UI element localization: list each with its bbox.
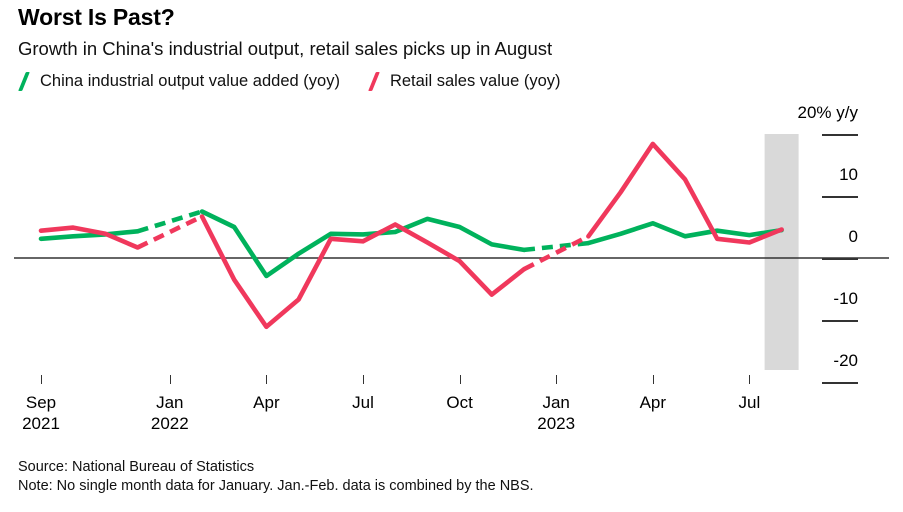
source-text: Source: National Bureau of Statistics (18, 458, 534, 477)
legend-swatch-green-icon (16, 73, 32, 90)
y-axis-tick-10 (822, 196, 858, 198)
x-axis-label-2022-10: Oct (410, 392, 510, 413)
y-axis-label--20: -20 (833, 351, 858, 371)
x-axis-label-month: Jul (699, 392, 799, 413)
legend-item-retail: Retail sales value (yoy) (366, 72, 561, 91)
legend-swatch-red-icon (366, 73, 382, 90)
y-axis-tick--20 (822, 382, 858, 384)
x-axis-label-2023-04: Apr (603, 392, 703, 413)
legend-label-retail: Retail sales value (yoy) (390, 72, 561, 91)
chart-page: Worst Is Past? Growth in China's industr… (0, 0, 903, 512)
series-gap-dashed-retail (138, 217, 202, 248)
x-axis-tick-2023-01 (556, 375, 557, 384)
series-line-industrial (202, 212, 524, 277)
x-axis-tick-2021-09 (41, 375, 42, 384)
x-axis-label-year: 2023 (506, 413, 606, 434)
x-axis-label-month: Apr (603, 392, 703, 413)
y-axis-label-20: 20% y/y (798, 103, 858, 123)
x-axis-tick-2023-07 (749, 375, 750, 384)
chart-legend: China industrial output value added (yoy… (16, 72, 561, 91)
y-axis-tick--10 (822, 320, 858, 322)
y-axis-label--10: -10 (833, 289, 858, 309)
x-axis-tick-2022-01 (170, 375, 171, 384)
legend-item-industrial: China industrial output value added (yoy… (16, 72, 340, 91)
page-subtitle: Growth in China's industrial output, ret… (18, 38, 552, 60)
series-gap-dashed-industrial (524, 243, 588, 250)
x-axis-tick-2022-04 (266, 375, 267, 384)
x-axis-tick-2022-07 (363, 375, 364, 384)
x-axis-label-2022-07: Jul (313, 392, 413, 413)
series-line-retail (41, 228, 138, 248)
x-axis-label-month: Jul (313, 392, 413, 413)
series-line-retail (202, 217, 524, 327)
y-axis-label-10: 10 (839, 165, 858, 185)
y-axis-tick-0 (822, 258, 858, 260)
x-axis-label-2023-07: Jul (699, 392, 799, 413)
series-line-industrial (588, 223, 781, 243)
x-axis-label-year: 2021 (0, 413, 91, 434)
x-axis-label-year: 2022 (120, 413, 220, 434)
series-gap-dashed-retail (524, 236, 588, 269)
x-axis-label-month: Sep (0, 392, 91, 413)
legend-label-industrial: China industrial output value added (yoy… (40, 72, 340, 91)
chart-footnote: Source: National Bureau of Statistics No… (18, 458, 534, 496)
note-text: Note: No single month data for January. … (18, 477, 534, 496)
x-axis-label-2021-09: Sep2021 (0, 392, 91, 434)
series-gap-dashed-industrial (138, 212, 202, 232)
x-axis-label-month: Jan (506, 392, 606, 413)
x-axis-label-2022-04: Apr (216, 392, 316, 413)
y-axis-label-0: 0 (849, 227, 858, 247)
y-axis: 20% y/y100-10-20 (775, 0, 903, 400)
x-axis-tick-2022-10 (460, 375, 461, 384)
y-axis-tick-20 (822, 134, 858, 136)
x-axis-label-month: Oct (410, 392, 510, 413)
series-line-industrial (41, 231, 138, 239)
x-axis-tick-2023-04 (653, 375, 654, 384)
x-axis-label-month: Jan (120, 392, 220, 413)
x-axis-label-month: Apr (216, 392, 316, 413)
x-axis-label-2022-01: Jan2022 (120, 392, 220, 434)
series-line-retail (588, 144, 781, 243)
page-title: Worst Is Past? (18, 4, 175, 31)
x-axis-label-2023-01: Jan2023 (506, 392, 606, 434)
